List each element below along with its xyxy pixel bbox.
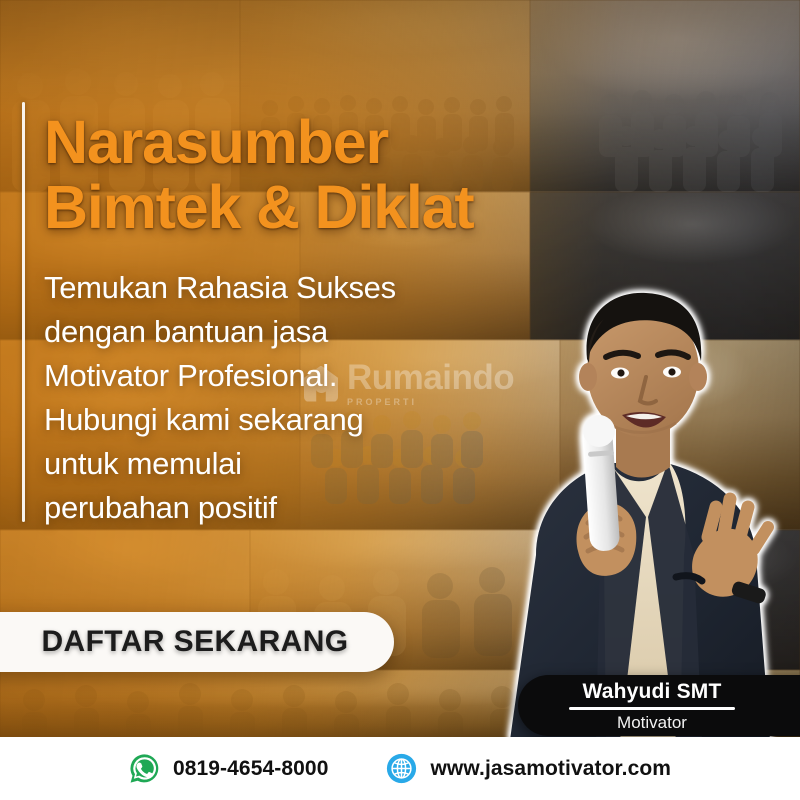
body-copy: Temukan Rahasia Sukses dengan bantuan ja…: [44, 266, 514, 530]
speaker-role: Motivator: [617, 714, 719, 731]
body-line-5: untuk memulai: [44, 442, 514, 486]
left-accent-bar: [22, 102, 25, 522]
nameplate-divider: [569, 707, 735, 710]
promo-poster: Rumaindo PROPERTI Narasumber Bimtek & Di…: [0, 0, 800, 800]
body-line-6: perubahan positif: [44, 486, 514, 530]
page-title: Narasumber Bimtek & Diklat: [44, 110, 564, 239]
headline-line-2: Bimtek & Diklat: [44, 175, 564, 240]
globe-icon: [386, 753, 417, 784]
body-line-2: dengan bantuan jasa: [44, 310, 514, 354]
phone-number: 0819-4654-8000: [173, 757, 329, 781]
whatsapp-contact[interactable]: 0819-4654-8000: [129, 753, 329, 784]
website-contact[interactable]: www.jasamotivator.com: [386, 753, 671, 784]
speaker-nameplate: Wahyudi SMT Motivator: [518, 675, 800, 736]
daftar-sekarang-button[interactable]: DAFTAR SEKARANG: [0, 612, 394, 672]
cta-label: DAFTAR SEKARANG: [27, 625, 348, 659]
headline-line-1: Narasumber: [44, 108, 388, 176]
body-line-4: Hubungi kami sekarang: [44, 398, 514, 442]
website-url: www.jasamotivator.com: [430, 757, 671, 781]
speaker-portrait: [470, 255, 800, 740]
body-line-3: Motivator Profesional.: [44, 354, 514, 398]
speaker-name: Wahyudi SMT: [582, 681, 753, 702]
footer-contact-bar: 0819-4654-8000 www.jasamotivator.com: [0, 737, 800, 800]
whatsapp-icon: [129, 753, 160, 784]
body-line-1: Temukan Rahasia Sukses: [44, 266, 514, 310]
